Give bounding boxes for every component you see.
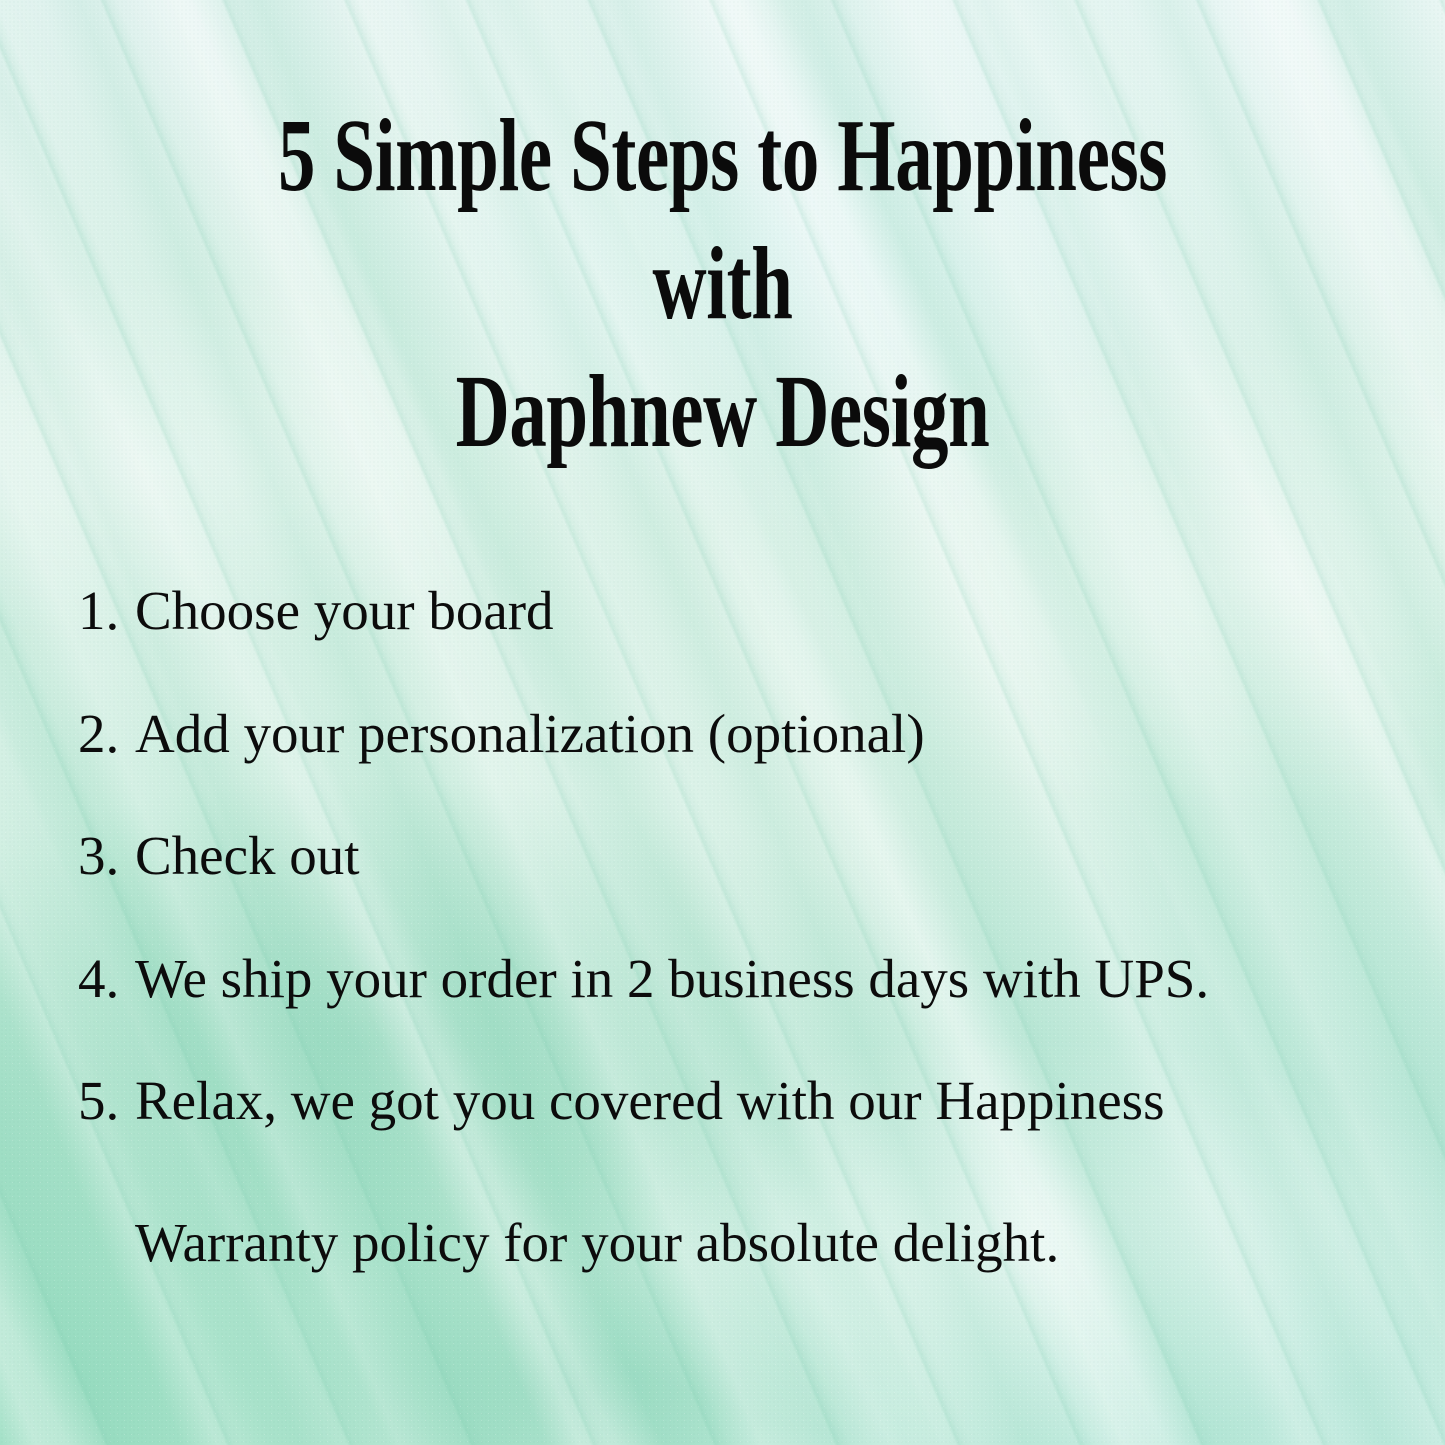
step-number: 4.	[78, 948, 135, 1010]
step-text: Choose your board	[135, 580, 1423, 642]
step-text: Check out	[135, 825, 1423, 887]
poster-content: 5 Simple Steps to Happiness with Daphnew…	[0, 0, 1445, 1445]
step-text: Add your personalization (optional)	[135, 703, 1423, 765]
title-line-brand: Daphnew Design	[202, 360, 1242, 464]
title-line-connector: with	[202, 232, 1242, 336]
step-text: We ship your order in 2 business days wi…	[135, 948, 1423, 1010]
list-item: 4. We ship your order in 2 business days…	[78, 948, 1423, 1010]
list-item: 5. Relax, we got you covered with our Ha…	[78, 1070, 1423, 1273]
step-number: 3.	[78, 825, 135, 887]
title-block: 5 Simple Steps to Happiness with Daphnew…	[0, 104, 1445, 464]
step-text-line-2: Warranty policy for your absolute deligh…	[135, 1212, 1423, 1274]
list-item: 2. Add your personalization (optional)	[78, 703, 1423, 765]
poster-canvas: 5 Simple Steps to Happiness with Daphnew…	[0, 0, 1445, 1445]
list-item: 3. Check out	[78, 825, 1423, 887]
title-line-primary: 5 Simple Steps to Happiness	[202, 104, 1242, 208]
step-text: Relax, we got you covered with our Happi…	[135, 1070, 1423, 1273]
step-text-line-1: Relax, we got you covered with our Happi…	[135, 1070, 1164, 1131]
step-number: 1.	[78, 580, 135, 642]
step-number: 2.	[78, 703, 135, 765]
step-number: 5.	[78, 1070, 135, 1132]
steps-list: 1. Choose your board 2. Add your persona…	[78, 580, 1423, 1274]
list-item: 1. Choose your board	[78, 580, 1423, 642]
